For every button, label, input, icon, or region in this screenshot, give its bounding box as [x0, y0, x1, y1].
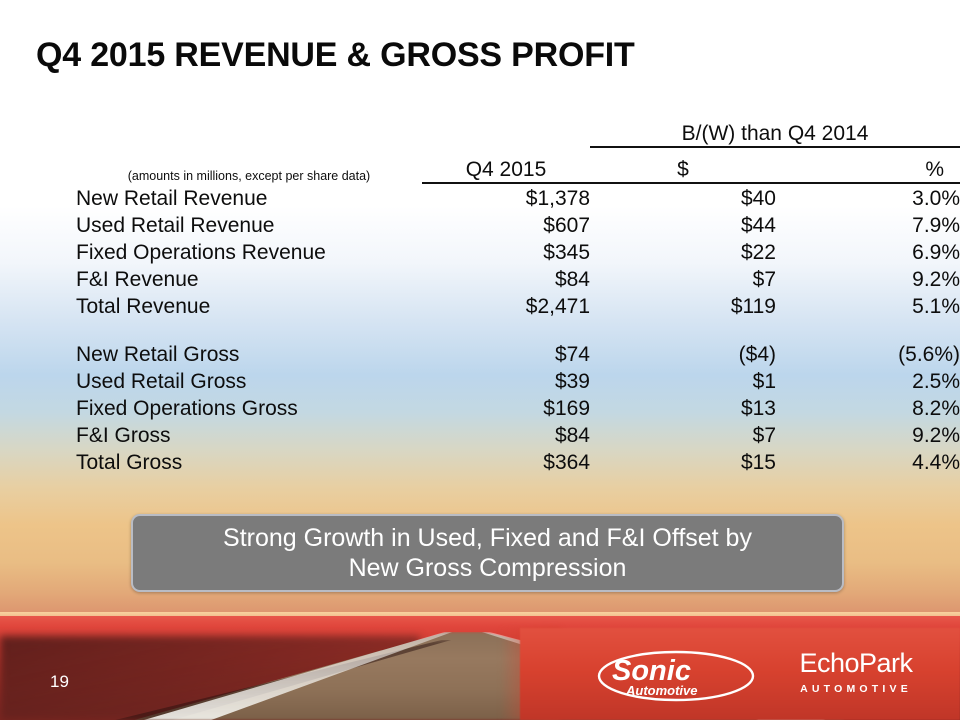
- table-group-header-row: B/(W) than Q4 2014: [76, 122, 960, 147]
- table-row: New Retail Revenue $1,378 $40 3.0%: [76, 183, 960, 211]
- table-row: F&I Revenue $84 $7 9.2%: [76, 265, 960, 292]
- row-label: Total Revenue: [76, 292, 422, 319]
- svg-text:Automotive: Automotive: [625, 683, 698, 698]
- row-label: New Retail Gross: [76, 340, 422, 367]
- column-group-header-bw: B/(W) than Q4 2014: [590, 122, 960, 147]
- row-label: Fixed Operations Revenue: [76, 238, 422, 265]
- row-value-percent: 5.1%: [776, 292, 960, 319]
- table-row: New Retail Gross $74 ($4) (5.6%): [76, 340, 960, 367]
- callout-text: Strong Growth in Used, Fixed and F&I Off…: [209, 523, 766, 584]
- row-value-percent: 6.9%: [776, 238, 960, 265]
- sonic-logo-svg: Sonic Automotive: [596, 648, 756, 704]
- row-value-dollar: $1: [590, 367, 776, 394]
- row-value-q4: $345: [422, 238, 590, 265]
- echopark-wordmark: EchoPark: [772, 650, 940, 677]
- row-value-q4: $364: [422, 448, 590, 475]
- callout-box: Strong Growth in Used, Fixed and F&I Off…: [131, 514, 844, 592]
- page-number: 19: [50, 672, 69, 692]
- table-row: Fixed Operations Gross $169 $13 8.2%: [76, 394, 960, 421]
- row-value-q4: $74: [422, 340, 590, 367]
- table-header-row: (amounts in millions, except per share d…: [76, 152, 960, 183]
- row-value-dollar: ($4): [590, 340, 776, 367]
- row-value-dollar: $44: [590, 211, 776, 238]
- table-row: Total Revenue $2,471 $119 5.1%: [76, 292, 960, 319]
- financial-table: B/(W) than Q4 2014 (amounts in millions,…: [0, 122, 960, 475]
- row-value-percent: 9.2%: [776, 421, 960, 448]
- table-row: Total Gross $364 $15 4.4%: [76, 448, 960, 475]
- row-value-dollar: $7: [590, 421, 776, 448]
- row-value-percent: 4.4%: [776, 448, 960, 475]
- echopark-subtitle: AUTOMOTIVE: [772, 683, 940, 695]
- row-value-q4: $607: [422, 211, 590, 238]
- row-label: F&I Revenue: [76, 265, 422, 292]
- row-label: Used Retail Gross: [76, 367, 422, 394]
- slide: Q4 2015 REVENUE & GROSS PROFIT B/(W) tha…: [0, 0, 960, 720]
- column-header-q4-2015: Q4 2015: [422, 152, 590, 183]
- row-label: Fixed Operations Gross: [76, 394, 422, 421]
- table-row: Fixed Operations Revenue $345 $22 6.9%: [76, 238, 960, 265]
- row-value-q4: $2,471: [422, 292, 590, 319]
- row-label: Total Gross: [76, 448, 422, 475]
- row-label: New Retail Revenue: [76, 183, 422, 211]
- table-row: F&I Gross $84 $7 9.2%: [76, 421, 960, 448]
- row-value-percent: 3.0%: [776, 183, 960, 211]
- table-section-gap: [76, 319, 960, 340]
- row-value-dollar: $22: [590, 238, 776, 265]
- callout-line-2: New Gross Compression: [349, 554, 627, 582]
- row-value-dollar: $13: [590, 394, 776, 421]
- row-value-q4: $84: [422, 421, 590, 448]
- row-value-percent: 8.2%: [776, 394, 960, 421]
- row-value-percent: 9.2%: [776, 265, 960, 292]
- row-label: Used Retail Revenue: [76, 211, 422, 238]
- table-units-note: (amounts in millions, except per share d…: [76, 152, 422, 183]
- table-row: Used Retail Revenue $607 $44 7.9%: [76, 211, 960, 238]
- table-row: Used Retail Gross $39 $1 2.5%: [76, 367, 960, 394]
- row-value-percent: 2.5%: [776, 367, 960, 394]
- callout-line-1: Strong Growth in Used, Fixed and F&I Off…: [223, 524, 752, 552]
- row-value-dollar: $15: [590, 448, 776, 475]
- row-value-q4: $39: [422, 367, 590, 394]
- row-value-q4: $84: [422, 265, 590, 292]
- row-value-q4: $169: [422, 394, 590, 421]
- column-header-percent: %: [776, 152, 960, 183]
- row-value-percent: (5.6%): [776, 340, 960, 367]
- row-value-q4: $1,378: [422, 183, 590, 211]
- row-value-dollar: $40: [590, 183, 776, 211]
- row-value-percent: 7.9%: [776, 211, 960, 238]
- sonic-automotive-logo: Sonic Automotive: [596, 648, 756, 704]
- column-header-dollar: $: [590, 152, 776, 183]
- row-label: F&I Gross: [76, 421, 422, 448]
- page-title: Q4 2015 REVENUE & GROSS PROFIT: [36, 36, 635, 75]
- row-value-dollar: $119: [590, 292, 776, 319]
- echopark-automotive-logo: EchoPark AUTOMOTIVE: [772, 650, 940, 702]
- row-value-dollar: $7: [590, 265, 776, 292]
